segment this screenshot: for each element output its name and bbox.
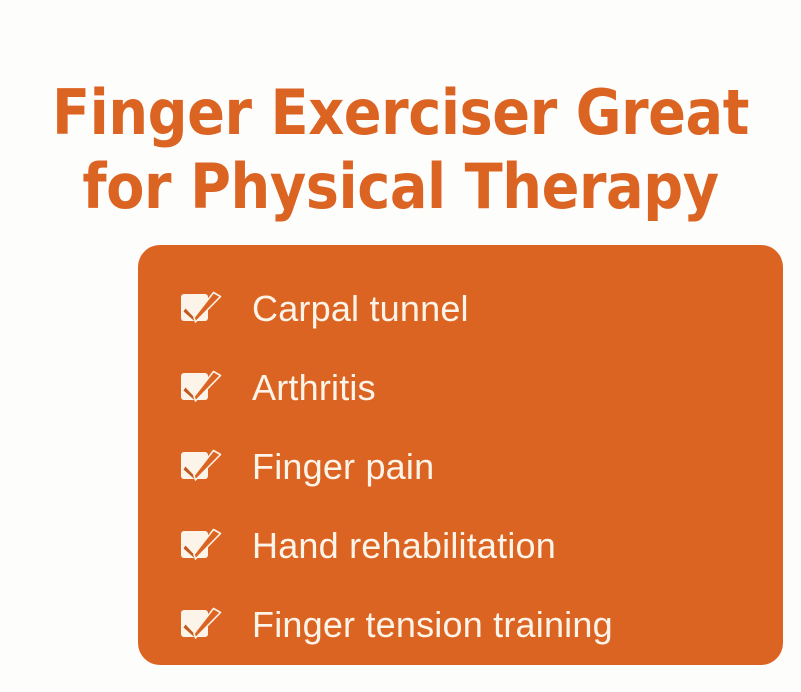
list-item: Carpal tunnel xyxy=(138,269,783,348)
promo-banner: Finger Exerciser Great for Physical Ther… xyxy=(0,0,801,692)
list-item: Arthritis xyxy=(138,348,783,427)
checkbox-checked-icon xyxy=(180,369,222,407)
list-item-label: Finger tension training xyxy=(252,605,613,645)
checkbox-checked-icon xyxy=(180,527,222,565)
list-item-label: Carpal tunnel xyxy=(252,289,469,329)
checkbox-checked-icon xyxy=(180,290,222,328)
list-item: Finger pain xyxy=(138,427,783,506)
benefits-list: Carpal tunnel Arthritis xyxy=(138,269,783,664)
list-item: Hand rehabilitation xyxy=(138,506,783,585)
list-item-label: Arthritis xyxy=(252,368,376,408)
list-item: Finger tension training xyxy=(138,585,783,664)
list-item-label: Finger pain xyxy=(252,447,434,487)
page-title-line-2: for Physical Therapy xyxy=(40,150,761,224)
benefits-panel: Carpal tunnel Arthritis xyxy=(138,245,783,665)
page-title: Finger Exerciser Great for Physical Ther… xyxy=(40,76,761,224)
page-title-line-1: Finger Exerciser Great xyxy=(40,76,761,150)
list-item-label: Hand rehabilitation xyxy=(252,526,556,566)
checkbox-checked-icon xyxy=(180,606,222,644)
checkbox-checked-icon xyxy=(180,448,222,486)
